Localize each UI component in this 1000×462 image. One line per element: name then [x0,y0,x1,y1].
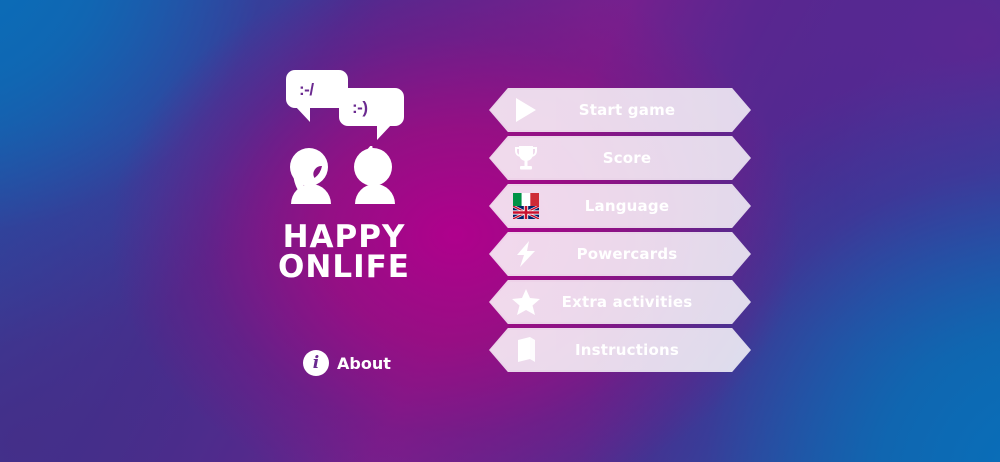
speech-bubble-right-icon: :-) [339,88,404,126]
menu-item-language[interactable]: Language [489,184,751,228]
uk-flag-icon [513,206,539,219]
menu-item-score[interactable]: Score [489,136,751,180]
button-content: Language [489,184,751,228]
main-menu: Start game Score [489,88,751,376]
about-label: About [337,354,391,373]
speech-bubbles-graphic: :-/ :-) [286,70,404,132]
bubble-tail-left [295,106,310,122]
italy-flag-icon [513,193,539,206]
two-kids-graphic [286,146,404,204]
button-content: Extra activities [489,280,751,324]
button-content: Score [489,136,751,180]
flags-icon [511,191,541,221]
menu-item-extra-activities[interactable]: Extra activities [489,280,751,324]
about-button[interactable]: i About [303,350,391,376]
kids-silhouette-icon [286,146,404,204]
menu-item-instructions[interactable]: Instructions [489,328,751,372]
logo-wordmark: HAPPY ONLIFE [278,222,410,282]
emoticon-smile: :-) [352,99,367,116]
lightning-bolt-icon [511,239,541,269]
play-icon [511,95,541,125]
logo-line-2: ONLIFE [278,252,410,282]
trophy-icon [511,143,541,173]
menu-item-start-game[interactable]: Start game [489,88,751,132]
bubble-tail-right [377,124,392,140]
info-icon: i [303,350,329,376]
app-screen: :-/ :-) [0,0,1000,462]
button-content: Instructions [489,328,751,372]
logo-line-1: HAPPY [278,222,410,252]
button-content: Powercards [489,232,751,276]
emoticon-confused: :-/ [299,81,314,98]
book-icon [511,335,541,365]
button-content: Start game [489,88,751,132]
star-icon [511,287,541,317]
menu-item-powercards[interactable]: Powercards [489,232,751,276]
